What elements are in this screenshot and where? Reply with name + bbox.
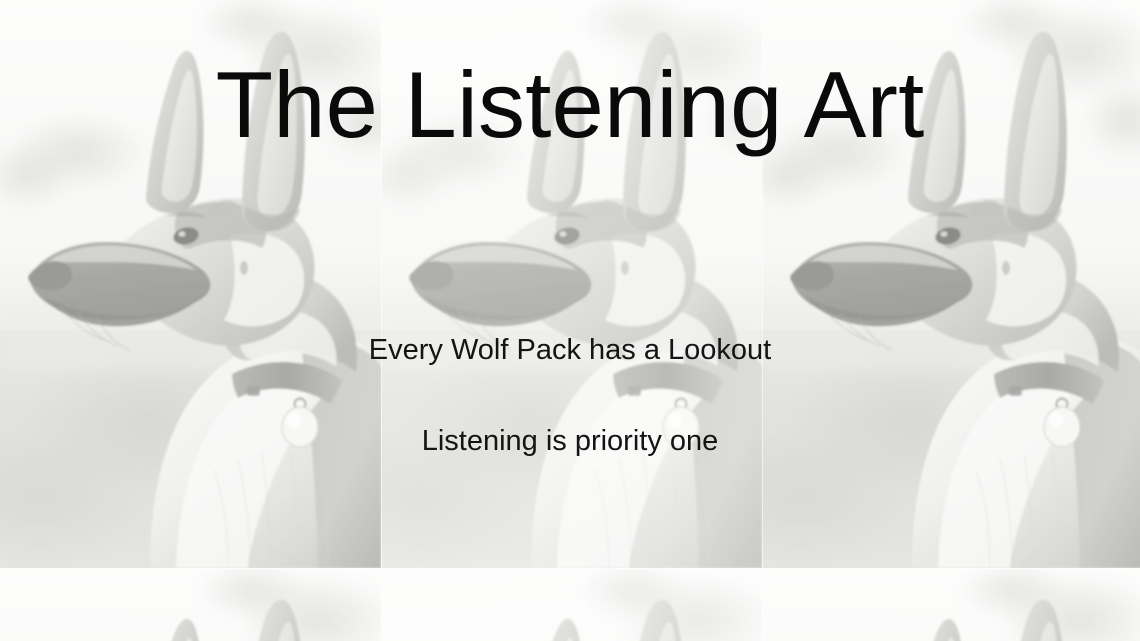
subtitle-spacer — [0, 365, 1140, 427]
title-slide: The Listening Art Every Wolf Pack has a … — [0, 0, 1140, 641]
subtitle-line-1: Every Wolf Pack has a Lookout — [0, 336, 1140, 365]
slide-text-layer: The Listening Art Every Wolf Pack has a … — [0, 0, 1140, 641]
slide-title: The Listening Art — [0, 56, 1140, 155]
subtitle-line-2: Listening is priority one — [0, 427, 1140, 456]
slide-subtitle-block: Every Wolf Pack has a Lookout Listening … — [0, 336, 1140, 456]
